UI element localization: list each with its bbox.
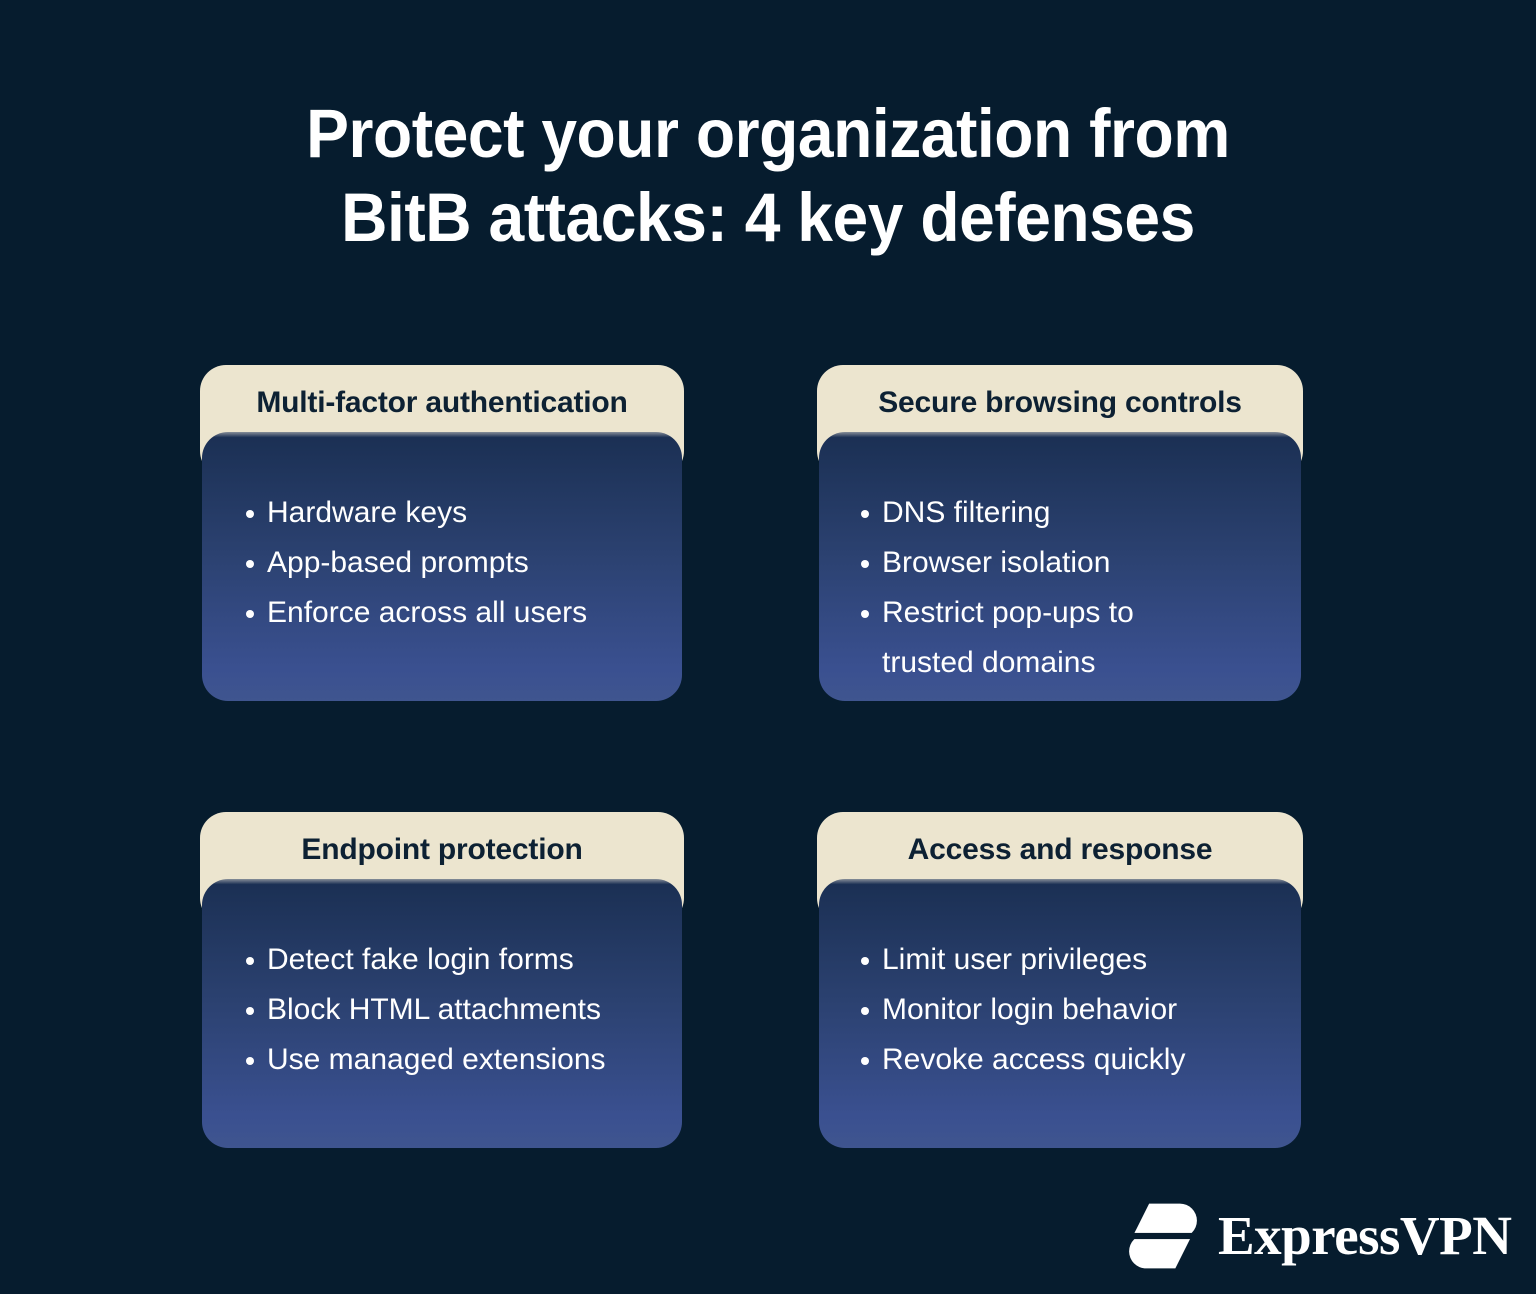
card-body-panel: Limit user privileges Monitor login beha… <box>819 879 1301 1148</box>
expressvpn-logo: ExpressVPN <box>1124 1199 1511 1273</box>
list-item: Restrict pop-ups to trusted domains <box>861 588 1279 688</box>
list-item: Enforce across all users <box>246 588 660 638</box>
card-body-panel: DNS filtering Browser isolation Restrict… <box>819 432 1301 701</box>
list-item: Use managed extensions <box>246 1035 660 1085</box>
list-item: Limit user privileges <box>861 935 1279 985</box>
page-title: Protect your organization from BitB atta… <box>0 92 1536 260</box>
card-bullet-list: Limit user privileges Monitor login beha… <box>819 935 1301 1085</box>
list-item: Detect fake login forms <box>246 935 660 985</box>
expressvpn-wordmark: ExpressVPN <box>1218 1207 1511 1265</box>
card-title: Secure browsing controls <box>817 385 1303 421</box>
card-body-panel: Hardware keys App-based prompts Enforce … <box>202 432 682 701</box>
list-item: Monitor login behavior <box>861 985 1279 1035</box>
list-item: Browser isolation <box>861 538 1279 588</box>
list-item: Hardware keys <box>246 488 660 538</box>
expressvpn-e-mark-icon <box>1124 1199 1202 1273</box>
list-item: DNS filtering <box>861 488 1279 538</box>
card-body-panel: Detect fake login forms Block HTML attac… <box>202 879 682 1148</box>
page-title-line-1: Protect your organization from <box>54 92 1482 176</box>
card-title: Endpoint protection <box>200 832 684 868</box>
card-bullet-list: Detect fake login forms Block HTML attac… <box>202 935 682 1085</box>
list-item: Revoke access quickly <box>861 1035 1279 1085</box>
card-bullet-list: Hardware keys App-based prompts Enforce … <box>202 488 682 638</box>
list-item: App-based prompts <box>246 538 660 588</box>
card-title: Multi-factor authentication <box>200 385 684 421</box>
list-item: Block HTML attachments <box>246 985 660 1035</box>
card-bullet-list: DNS filtering Browser isolation Restrict… <box>819 488 1301 688</box>
card-title: Access and response <box>817 832 1303 868</box>
page-title-line-2: BitB attacks: 4 key defenses <box>54 176 1482 260</box>
